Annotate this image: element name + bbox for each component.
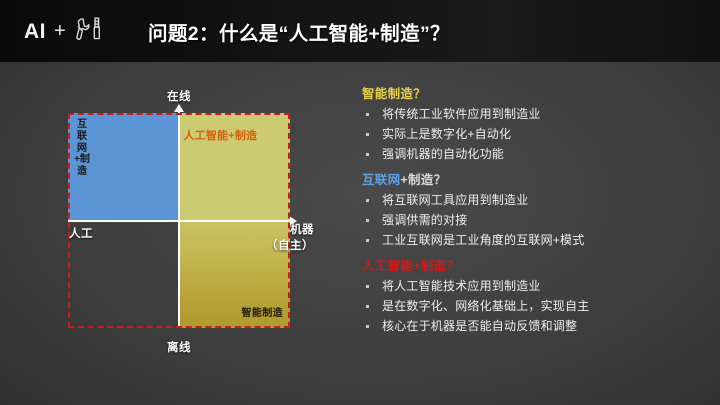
list-item: 强调机器的自动化功能 — [360, 148, 700, 160]
list-item: 将人工智能技术应用到制造业 — [360, 280, 700, 292]
list-item: 实际上是数字化+自动化 — [360, 128, 700, 140]
brand-logo: AI + — [24, 16, 104, 46]
axis-label-manual: 人工 — [69, 225, 93, 241]
section-heading-smart-manufacturing: 智能制造？ — [362, 87, 700, 102]
section-heading-plus-part: +制造？ — [400, 173, 446, 187]
slide-header: AI + 问题2：什么是“人工智能+制造”？ — [0, 0, 720, 62]
list-item: 强调供需的对接 — [360, 214, 700, 226]
logo-plus-sign: + — [53, 21, 67, 41]
section-heading-internet-manufacturing: 互联网+制造？ — [362, 173, 700, 188]
explanation-list: 智能制造？ 将传统工业软件应用到制造业 实际上是数字化+自动化 强调机器的自动化… — [360, 87, 700, 332]
axis-label-online: 在线 — [167, 88, 191, 104]
list-item: 将传统工业软件应用到制造业 — [360, 108, 700, 120]
section-internet-manufacturing: 互联网+制造？ 将互联网工具应用到制造业 强调供需的对接 工业互联网是工业角度的… — [360, 173, 700, 246]
section-heading-internet-part: 互联网 — [362, 173, 400, 187]
diagram-dashed-frame — [68, 113, 290, 328]
section-heading-ai-manufacturing: 人工智能+制造？ — [362, 259, 700, 274]
axis-label-machine-line2: （自主） — [266, 239, 314, 255]
axis-label-machine: 机器 （自主） — [266, 223, 314, 254]
slide-canvas: AI + 问题2：什么是“人工智能+制造”？ 智能制造 — [0, 0, 720, 405]
list-item: 是在数字化、网络化基础上，实现自主 — [360, 300, 700, 312]
quadrant-diagram: 智能制造 互联网+制造 人工智能+制造 在线 离线 人工 机器 （自主） — [68, 113, 290, 328]
list-item: 核心在于机器是否能自动反馈和调整 — [360, 320, 700, 332]
list-item: 工业互联网是工业角度的互联网+模式 — [360, 234, 700, 246]
bullet-list-internet-manufacturing: 将互联网工具应用到制造业 强调供需的对接 工业互联网是工业角度的互联网+模式 — [360, 194, 700, 246]
wrench-screwdriver-icon — [74, 16, 104, 47]
axis-label-machine-line1: 机器 — [266, 223, 314, 239]
list-item: 将互联网工具应用到制造业 — [360, 194, 700, 206]
bullet-list-ai-manufacturing: 将人工智能技术应用到制造业 是在数字化、网络化基础上，实现自主 核心在于机器是否… — [360, 280, 700, 332]
section-ai-manufacturing: 人工智能+制造？ 将人工智能技术应用到制造业 是在数字化、网络化基础上，实现自主… — [360, 259, 700, 332]
bullet-list-smart-manufacturing: 将传统工业软件应用到制造业 实际上是数字化+自动化 强调机器的自动化功能 — [360, 108, 700, 160]
axis-label-offline: 离线 — [167, 339, 191, 355]
section-smart-manufacturing: 智能制造？ 将传统工业软件应用到制造业 实际上是数字化+自动化 强调机器的自动化… — [360, 87, 700, 160]
page-title: 问题2：什么是“人工智能+制造”？ — [148, 17, 450, 46]
logo-text: AI — [24, 21, 46, 42]
